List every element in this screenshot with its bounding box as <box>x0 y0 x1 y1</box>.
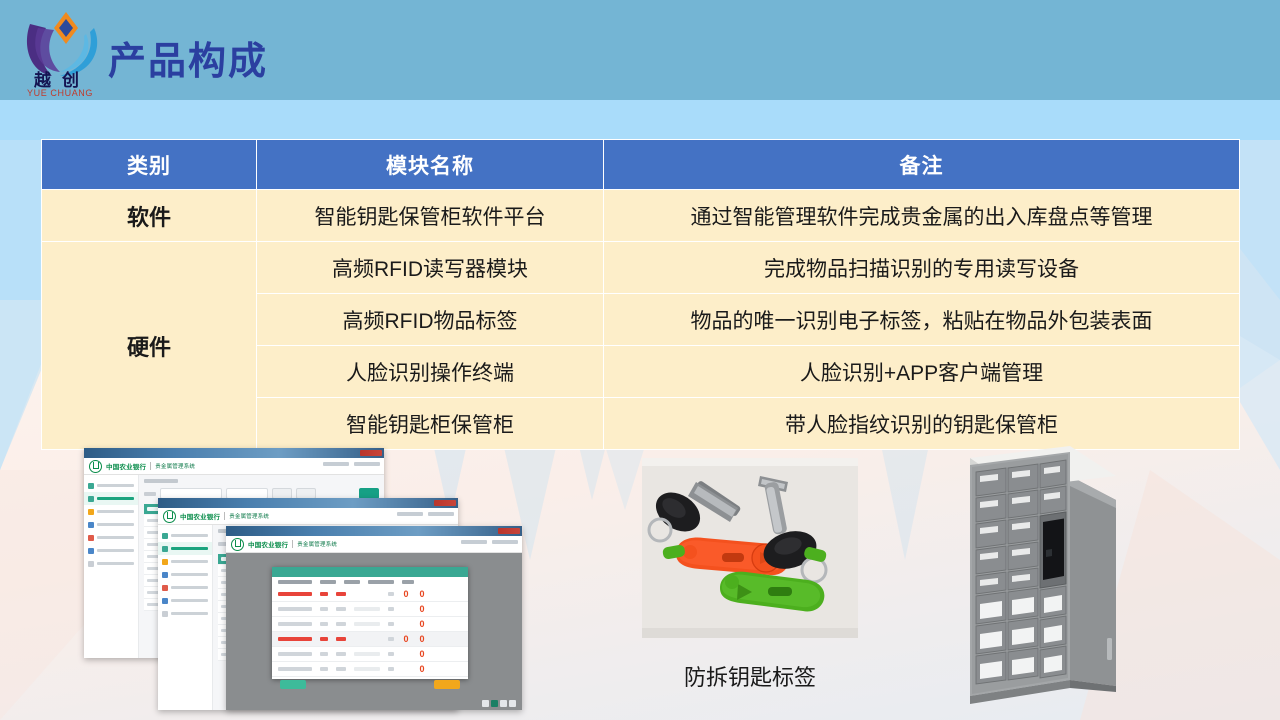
chart-icon <box>162 572 168 578</box>
cell-category-software: 软件 <box>42 190 257 242</box>
current-page[interactable] <box>491 700 498 707</box>
window-controls <box>434 500 456 506</box>
warehouse-icon <box>88 496 94 502</box>
system-name: 贵金属管理系统 <box>150 462 195 470</box>
key-photo-caption: 防拆钥匙标签 <box>642 660 858 692</box>
user-menu <box>461 540 518 544</box>
table-row: 硬件 高频RFID读写器模块 完成物品扫描识别的专用读写设备 <box>42 242 1240 294</box>
sidebar-item[interactable] <box>84 557 138 570</box>
prev-page-button[interactable] <box>482 700 489 707</box>
box-icon <box>88 509 94 515</box>
bank-name: 中国农业银行 <box>106 461 146 471</box>
sidebar-item[interactable] <box>158 529 212 542</box>
sidebar-item[interactable] <box>84 479 138 492</box>
bank-logo-icon <box>89 460 102 473</box>
cell-note: 完成物品扫描识别的专用读写设备 <box>604 242 1240 294</box>
gear-icon <box>88 561 94 567</box>
user-menu <box>397 512 454 516</box>
warehouse-icon <box>162 546 168 552</box>
count-badge: 0 <box>418 634 426 644</box>
page-title: 产品构成 <box>108 30 268 85</box>
modal-table-row[interactable]: 00 <box>272 647 468 662</box>
sidebar-item[interactable] <box>158 555 212 568</box>
count-badge: 0 <box>418 664 426 674</box>
sidebar-item[interactable] <box>158 594 212 607</box>
window-titlebar <box>226 526 522 536</box>
header-underband <box>0 100 1280 140</box>
smart-key-locker-cabinet <box>940 438 1130 710</box>
sidebar-item[interactable] <box>158 581 212 594</box>
cell-module: 智能钥匙保管柜软件平台 <box>257 190 604 242</box>
modal-table-header <box>272 577 468 587</box>
cell-note: 通过智能管理软件完成贵金属的出入库盘点等管理 <box>604 190 1240 242</box>
software-screenshots-stack: 中国农业银行 贵金属管理系统 <box>78 448 538 710</box>
count-badge: 0 <box>418 649 426 659</box>
next-page-button[interactable] <box>500 700 507 707</box>
pagination[interactable] <box>482 700 516 707</box>
svg-text:YUE CHUANG: YUE CHUANG <box>27 88 93 98</box>
last-page-button[interactable] <box>509 700 516 707</box>
table-header-row: 类别 模块名称 备注 <box>42 140 1240 190</box>
cell-note: 人脸识别+APP客户端管理 <box>604 346 1240 398</box>
user-menu <box>323 462 380 466</box>
bank-name: 中国农业银行 <box>180 511 220 521</box>
system-name: 贵金属管理系统 <box>224 512 269 520</box>
company-logo: 越 创 YUE CHUANG <box>16 6 114 98</box>
app-brand-bar: 中国农业银行 贵金属管理系统 <box>226 536 522 553</box>
modal-table-row[interactable]: 00 <box>272 587 468 602</box>
app-brand-bar: 中国农业银行 贵金属管理系统 <box>84 458 384 475</box>
cancel-button[interactable] <box>434 680 460 689</box>
cell-module: 高频RFID物品标签 <box>257 294 604 346</box>
alert-icon <box>162 585 168 591</box>
column-header-module: 模块名称 <box>257 140 604 190</box>
column-header-note: 备注 <box>604 140 1240 190</box>
window-titlebar <box>158 498 458 508</box>
cell-note: 带人脸指纹识别的钥匙保管柜 <box>604 398 1240 450</box>
anti-tamper-key-tag-photo <box>642 458 858 638</box>
table-row: 软件 智能钥匙保管柜软件平台 通过智能管理软件完成贵金属的出入库盘点等管理 <box>42 190 1240 242</box>
cell-category-hardware: 硬件 <box>42 242 257 450</box>
count-badge: 0 <box>402 634 410 644</box>
software-screenshot-front: 中国农业银行 贵金属管理系统 00 00 00 00 00 00 <box>226 526 522 710</box>
window-controls <box>498 528 520 534</box>
入库-modal-dialog: 00 00 00 00 00 00 <box>272 567 468 679</box>
count-badge: 0 <box>418 589 426 599</box>
modal-table-row[interactable]: 00 <box>272 617 468 632</box>
cell-module: 高频RFID读写器模块 <box>257 242 604 294</box>
modal-table-row[interactable]: 00 <box>272 662 468 677</box>
chart-icon <box>88 522 94 528</box>
modal-table-row[interactable]: 00 <box>272 632 468 647</box>
cell-module: 人脸识别操作终端 <box>257 346 604 398</box>
sidebar-item[interactable] <box>84 505 138 518</box>
app-body-dimmed: 00 00 00 00 00 00 <box>226 553 522 710</box>
breadcrumb <box>144 479 178 483</box>
svg-text:创: 创 <box>61 70 79 90</box>
sidebar-item[interactable] <box>84 492 138 505</box>
alert-icon <box>88 535 94 541</box>
product-composition-table: 类别 模块名称 备注 软件 智能钥匙保管柜软件平台 通过智能管理软件完成贵金属的… <box>41 139 1240 450</box>
count-badge: 0 <box>402 589 410 599</box>
gear-icon <box>162 611 168 617</box>
sidebar-item[interactable] <box>84 531 138 544</box>
window-controls <box>360 450 382 456</box>
sidebar-item[interactable] <box>84 518 138 531</box>
cell-module: 智能钥匙柜保管柜 <box>257 398 604 450</box>
user-icon <box>162 598 168 604</box>
sidebar-item[interactable] <box>158 568 212 581</box>
bank-logo-icon <box>163 510 176 523</box>
sidebar-item[interactable] <box>158 607 212 620</box>
touchscreen-panel <box>1040 512 1066 588</box>
confirm-button[interactable] <box>280 680 306 689</box>
modal-footer <box>272 677 468 692</box>
system-name: 贵金属管理系统 <box>292 540 337 548</box>
cell-note: 物品的唯一识别电子标签，粘贴在物品外包装表面 <box>604 294 1240 346</box>
app-brand-bar: 中国农业银行 贵金属管理系统 <box>158 508 458 525</box>
svg-text:越: 越 <box>33 70 52 90</box>
sidebar-item[interactable] <box>158 542 212 555</box>
presentation-slide: 越 创 YUE CHUANG 产品构成 类别 模块名称 备注 软件 智能钥匙保管… <box>0 0 1280 720</box>
app-sidebar <box>158 525 213 710</box>
app-sidebar <box>84 475 139 658</box>
user-icon <box>88 548 94 554</box>
column-header-category: 类别 <box>42 140 257 190</box>
bank-logo-icon <box>231 538 244 551</box>
filter-label <box>144 492 156 496</box>
bank-name: 中国农业银行 <box>248 539 288 549</box>
sidebar-item[interactable] <box>84 544 138 557</box>
modal-table-row[interactable]: 00 <box>272 602 468 617</box>
window-titlebar <box>84 448 384 458</box>
doc-icon <box>162 533 168 539</box>
count-badge: 0 <box>418 604 426 614</box>
modal-titlebar <box>272 567 468 577</box>
doc-icon <box>88 483 94 489</box>
box-icon <box>162 559 168 565</box>
count-badge: 0 <box>418 619 426 629</box>
